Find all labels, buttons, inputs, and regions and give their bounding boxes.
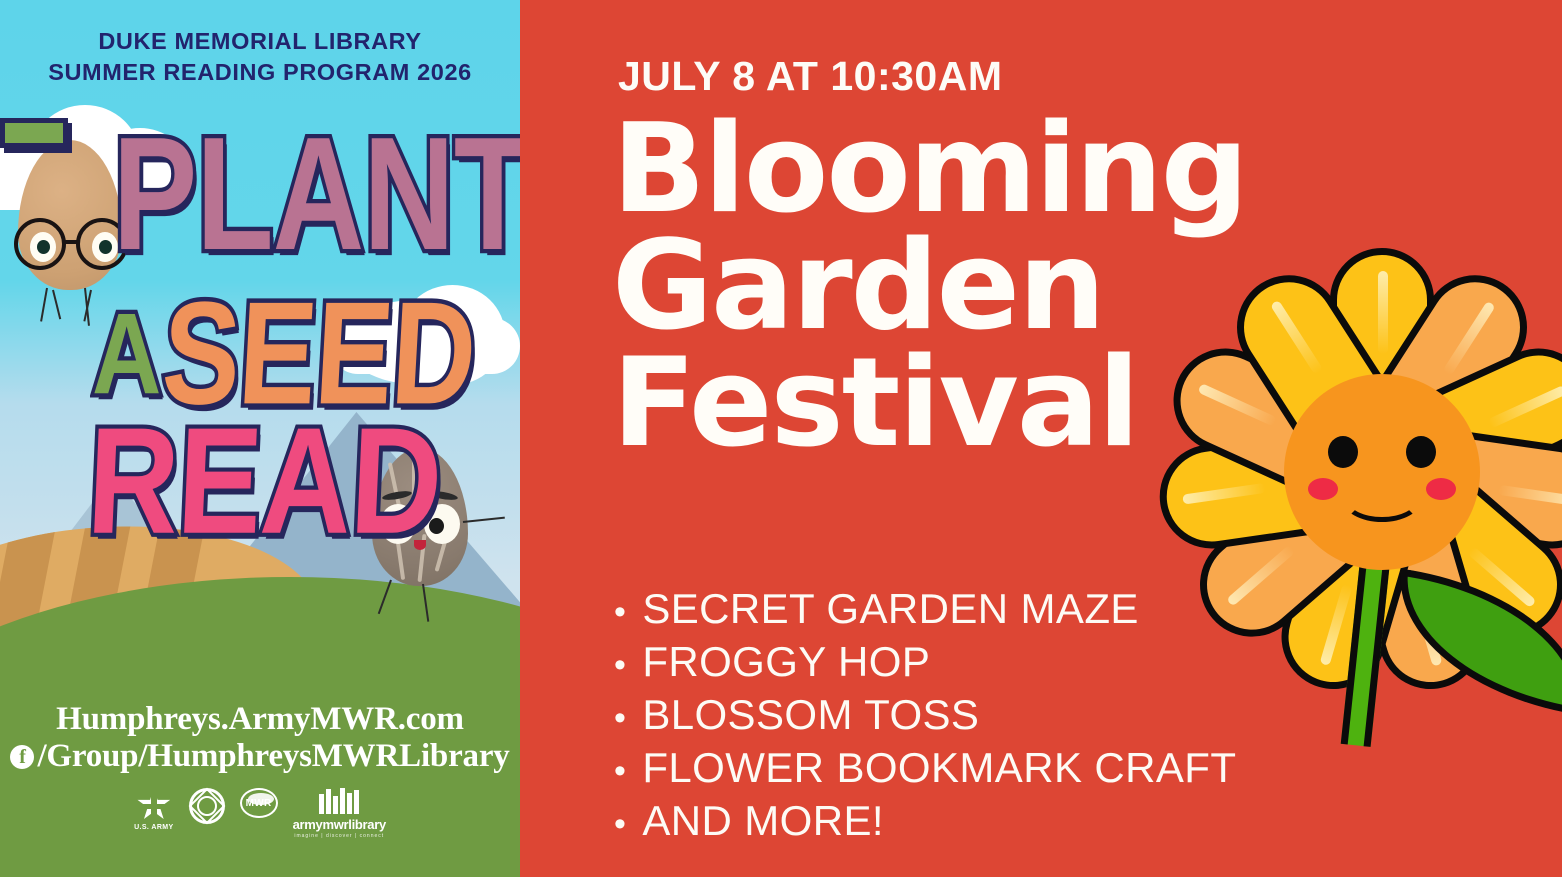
website-url[interactable]: Humphreys.ArmyMWR.com xyxy=(0,701,520,738)
list-item: • FROGGY HOP xyxy=(614,636,1236,689)
logo-word-read: READ xyxy=(84,394,445,568)
bullet-icon: • xyxy=(614,701,626,735)
mwr-globe-icon: MWR xyxy=(240,788,278,818)
us-army-star-icon: U.S. ARMY xyxy=(134,788,174,831)
activity-label: AND MORE! xyxy=(642,795,884,848)
event-datetime: JULY 8 AT 10:30AM xyxy=(618,53,1003,100)
program-logo: PLANT A SEED READ xyxy=(0,118,520,588)
left-branding-panel: PLANT A SEED READ DUKE MEMORIAL LIBRARY … xyxy=(0,0,520,877)
logo-dash xyxy=(0,118,68,148)
event-title: Blooming Garden Festival xyxy=(612,112,1332,463)
library-header: DUKE MEMORIAL LIBRARY SUMMER READING PRO… xyxy=(0,26,520,88)
agency-logo-row: U.S. ARMY MWR armymwrlibrary imagine | d… xyxy=(0,788,520,839)
bullet-icon: • xyxy=(614,648,626,682)
program-name: SUMMER READING PROGRAM 2026 xyxy=(0,57,520,88)
army-mwr-library-caption: armymwrlibrary xyxy=(293,817,386,832)
activity-list: • SECRET GARDEN MAZE • FROGGY HOP • BLOS… xyxy=(614,583,1236,848)
us-army-caption: U.S. ARMY xyxy=(134,824,174,831)
activity-label: FROGGY HOP xyxy=(642,636,930,689)
flower-eye-left xyxy=(1328,436,1358,468)
list-item: • BLOSSOM TOSS xyxy=(614,689,1236,742)
flower-eye-right xyxy=(1406,436,1436,468)
flower-smile xyxy=(1343,478,1421,522)
mwr-caption: MWR xyxy=(246,798,272,809)
petal-highlight xyxy=(1319,583,1352,666)
petal-highlight xyxy=(1498,485,1562,507)
petal-highlight xyxy=(1182,482,1266,504)
book-spines-icon xyxy=(293,788,386,814)
garrison-crest-icon xyxy=(189,788,225,824)
army-mwr-library-icon: armymwrlibrary imagine | discover | conn… xyxy=(293,788,386,839)
flower-blush-left xyxy=(1308,478,1338,500)
bullet-icon: • xyxy=(614,807,626,841)
logo-word-plant: PLANT xyxy=(113,101,520,285)
petal-highlight xyxy=(1443,301,1496,376)
event-title-line-2: Garden xyxy=(612,229,1332,346)
list-item: • AND MORE! xyxy=(614,795,1236,848)
army-mwr-library-tagline: imagine | discover | connect xyxy=(293,833,386,839)
petal-highlight xyxy=(1378,271,1388,354)
activity-label: SECRET GARDEN MAZE xyxy=(642,583,1139,636)
bullet-icon: • xyxy=(614,754,626,788)
facebook-icon: f xyxy=(10,745,34,769)
event-details-panel: JULY 8 AT 10:30AM Blooming Garden Festiv… xyxy=(520,0,1562,877)
footer-contact: Humphreys.ArmyMWR.com f /Group/Humphreys… xyxy=(0,701,520,839)
list-item: • SECRET GARDEN MAZE xyxy=(614,583,1236,636)
bullet-icon: • xyxy=(614,595,626,629)
activity-label: BLOSSOM TOSS xyxy=(642,689,979,742)
facebook-path: /Group/HumphreysMWRLibrary xyxy=(37,738,509,775)
event-title-line-1: Blooming xyxy=(612,112,1332,229)
petal-highlight xyxy=(1488,385,1562,429)
activity-label: FLOWER BOOKMARK CRAFT xyxy=(642,742,1236,795)
facebook-link[interactable]: f /Group/HumphreysMWRLibrary xyxy=(0,738,520,775)
flower-blush-right xyxy=(1426,478,1456,500)
event-title-line-3: Festival xyxy=(612,346,1332,463)
library-name: DUKE MEMORIAL LIBRARY xyxy=(0,26,520,57)
list-item: • FLOWER BOOKMARK CRAFT xyxy=(614,742,1236,795)
event-flyer: PLANT A SEED READ DUKE MEMORIAL LIBRARY … xyxy=(0,0,1562,877)
